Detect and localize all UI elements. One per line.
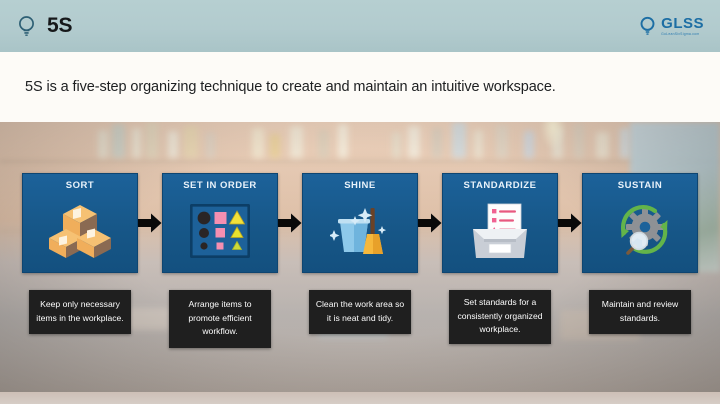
caption-shine: Clean the work area so it is neat and ti… (309, 290, 411, 334)
step-card-sustain[interactable]: SUSTAIN (582, 173, 698, 273)
subtitle-text: 5S is a five-step organizing technique t… (0, 79, 556, 95)
bottom-strip (0, 392, 720, 404)
caption-standardize: Set standards for a consistently organiz… (449, 290, 551, 344)
step-card-set-in-order[interactable]: SET IN ORDER (162, 173, 278, 273)
step-title: SORT (66, 181, 94, 191)
slide-5s: 5S GLSS GoLeanSixSigma.com 5S is a five-… (0, 0, 720, 404)
glss-logo[interactable]: GLSS GoLeanSixSigma.com (639, 16, 720, 36)
boxes-icon (23, 191, 137, 273)
logo-name: GLSS (661, 16, 704, 31)
step-title: SHINE (344, 181, 376, 191)
gear-cycle-icon (583, 191, 697, 273)
5s-flow: SORT (22, 173, 698, 273)
step-title: SUSTAIN (618, 181, 663, 191)
caption-slot: Clean the work area so it is neat and ti… (302, 290, 418, 334)
header-brand: 5S (0, 14, 72, 38)
slide-header: 5S GLSS GoLeanSixSigma.com (0, 0, 720, 52)
step-card-sort[interactable]: SORT (22, 173, 138, 273)
step-card-standardize[interactable]: STANDARDIZE (442, 173, 558, 273)
caption-slot: Arrange items to promote efficient workf… (162, 290, 278, 348)
step-title: STANDARDIZE (464, 181, 537, 191)
step-card-shine[interactable]: SHINE (302, 173, 418, 273)
subtitle-band: 5S is a five-step organizing technique t… (0, 52, 720, 122)
logo-wordmark: GLSS GoLeanSixSigma.com (661, 16, 704, 36)
arrow-right-icon (558, 173, 582, 273)
caption-sustain: Maintain and review standards. (589, 290, 691, 334)
caption-set-in-order: Arrange items to promote efficient workf… (169, 290, 271, 348)
shapes-grid-icon (163, 191, 277, 273)
caption-slot: Maintain and review standards. (582, 290, 698, 334)
arrow-right-icon (418, 173, 442, 273)
step-title: SET IN ORDER (183, 181, 257, 191)
caption-row: Keep only necessary items in the workpla… (22, 290, 698, 372)
page-title: 5S (47, 14, 72, 38)
bucket-broom-icon (303, 191, 417, 273)
caption-slot: Set standards for a consistently organiz… (442, 290, 558, 344)
arrow-right-icon (278, 173, 302, 273)
caption-slot: Keep only necessary items in the workpla… (22, 290, 138, 334)
lightbulb-logo-icon (639, 16, 656, 36)
arrow-right-icon (138, 173, 162, 273)
caption-sort: Keep only necessary items in the workpla… (29, 290, 131, 334)
file-box-icon (443, 191, 557, 273)
lightbulb-icon (17, 15, 36, 37)
logo-subtitle: GoLeanSixSigma.com (661, 32, 704, 36)
